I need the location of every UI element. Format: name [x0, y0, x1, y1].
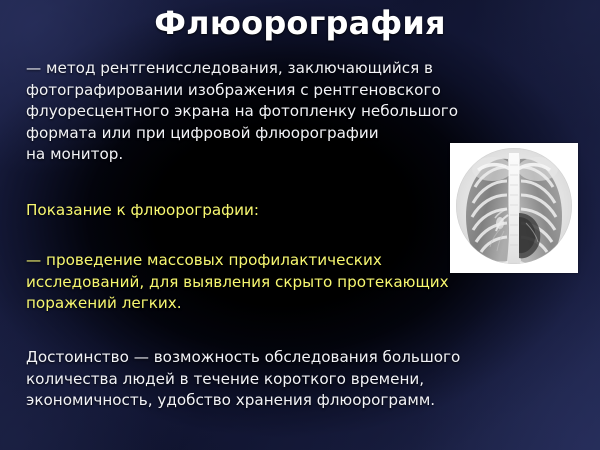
- slide-root: Флюорография — метод рентгенисследования…: [0, 0, 600, 450]
- page-title: Флюорография: [0, 4, 600, 42]
- chest-xray-icon: [450, 143, 578, 273]
- paragraph-advantage: Достоинство — возможность обследования б…: [26, 347, 546, 412]
- xray-image-frame: [450, 143, 578, 273]
